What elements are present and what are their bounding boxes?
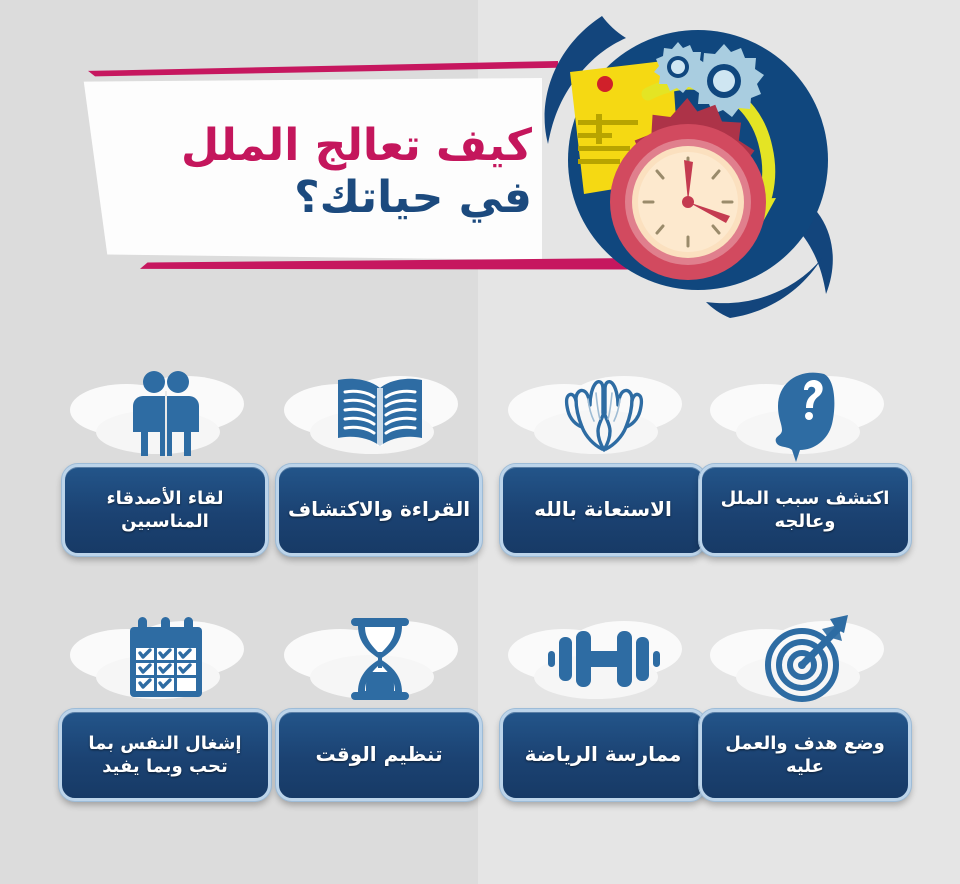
tip-icon-container-8 <box>698 605 913 713</box>
title-line-primary: كيف تعالج الملل <box>92 120 532 172</box>
head-question-mark-icon <box>766 366 846 462</box>
tip-card-label-4: اكتشف سبب الملل وعالجه <box>710 487 900 533</box>
tip-card-6[interactable]: تنظيم الوقت <box>272 605 487 820</box>
tip-card-body-3[interactable]: الاستعانة بالله <box>500 464 706 556</box>
calendar-checks-icon <box>124 615 208 703</box>
tip-card-label-3: الاستعانة بالله <box>534 497 672 523</box>
hourglass-icon <box>345 614 415 704</box>
tip-card-2[interactable]: القراءة والاكتشاف <box>272 360 487 575</box>
poster-title: كيف تعالج الملل في حياتك؟ <box>92 92 532 252</box>
tip-card-8[interactable]: وضع هدف والعمل عليه <box>698 605 913 820</box>
two-people-icon <box>130 369 202 459</box>
tip-icon-container-6 <box>272 605 487 713</box>
open-book-icon <box>333 374 427 454</box>
tip-card-label-5: إشغال النفس بما تحب وبما يفيد <box>70 732 260 778</box>
infographic-poster: كيف تعالج الملل في حياتك؟ <box>0 0 960 884</box>
tip-card-7[interactable]: ممارسة الرياضة <box>496 605 711 820</box>
tip-card-label-6: تنظيم الوقت <box>315 742 442 768</box>
tip-icon-container-1 <box>58 360 273 468</box>
tip-card-body-7[interactable]: ممارسة الرياضة <box>500 709 706 801</box>
tip-card-label-7: ممارسة الرياضة <box>525 742 682 768</box>
tip-card-body-5[interactable]: إشغال النفس بما تحب وبما يفيد <box>59 709 271 801</box>
tip-card-label-2: القراءة والاكتشاف <box>288 497 470 523</box>
tip-icon-container-3 <box>496 360 711 468</box>
tip-icon-container-4 <box>698 360 913 468</box>
tip-card-1[interactable]: لقاء الأصدقاء المناسبين <box>58 360 273 575</box>
title-line-secondary: في حياتك؟ <box>92 172 532 224</box>
tip-card-body-6[interactable]: تنظيم الوقت <box>276 709 482 801</box>
tip-card-label-8: وضع هدف والعمل عليه <box>710 732 900 778</box>
accent-line-top <box>88 61 558 77</box>
tip-card-body-4[interactable]: اكتشف سبب الملل وعالجه <box>699 464 911 556</box>
tip-card-body-1[interactable]: لقاء الأصدقاء المناسبين <box>62 464 268 556</box>
tip-card-4[interactable]: اكتشف سبب الملل وعالجه <box>698 360 913 575</box>
tip-icon-container-2 <box>272 360 487 468</box>
tip-card-body-2[interactable]: القراءة والاكتشاف <box>276 464 482 556</box>
tip-icon-container-5 <box>58 605 273 713</box>
hero-illustration <box>530 2 860 332</box>
tips-grid: لقاء الأصدقاء المناسبين <box>0 360 960 840</box>
tip-card-5[interactable]: إشغال النفس بما تحب وبما يفيد <box>58 605 273 820</box>
poster-header: كيف تعالج الملل في حياتك؟ <box>0 0 960 345</box>
dumbbell-icon <box>548 627 660 691</box>
tip-icon-container-7 <box>496 605 711 713</box>
tip-card-3[interactable]: الاستعانة بالله <box>496 360 711 575</box>
praying-hands-icon <box>556 371 652 457</box>
tip-card-label-1: لقاء الأصدقاء المناسبين <box>73 487 257 533</box>
tip-card-body-8[interactable]: وضع هدف والعمل عليه <box>699 709 911 801</box>
target-arrow-icon <box>760 613 852 705</box>
